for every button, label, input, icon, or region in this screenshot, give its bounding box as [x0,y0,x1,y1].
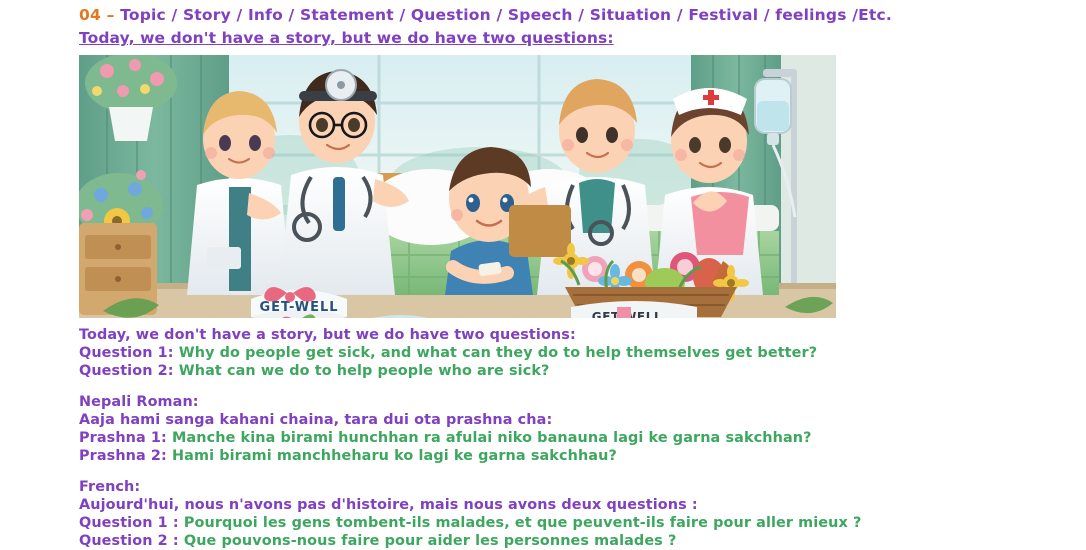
nepali-q2-text: Hami birami manchheharu ko lagi ke garna… [172,448,617,464]
header-block: 04 – Topic / Story / Info / Statement / … [79,6,1069,48]
french-q1-label: Question 1 : [79,515,184,531]
french-question-2: Question 2 : Que pouvons-nous faire pour… [79,532,1079,550]
lesson-number: 04 – [79,6,120,24]
lesson-slide: 04 – Topic / Story / Info / Statement / … [0,0,1086,543]
english-q2-label: Question 2: [79,363,179,379]
nepali-question-1: Prashna 1: Manche kina birami hunchhan r… [79,429,1079,447]
nepali-q2-label: Prashna 2: [79,448,172,464]
nepali-q1-label: Prashna 1: [79,430,172,446]
english-q2-text: What can we do to help people who are si… [179,363,550,379]
svg-text:GET-WELL: GET-WELL [259,300,338,315]
nepali-heading: Nepali Roman: [79,393,1079,411]
english-q1-label: Question 1: [79,345,179,361]
spacer-1 [79,380,1079,393]
french-heading: French: [79,478,1079,496]
french-intro: Aujourd'hui, nous n'avons pas d'histoire… [79,496,1079,514]
nepali-question-2: Prashna 2: Hami birami manchheharu ko la… [79,447,1079,465]
french-q1-text: Pourquoi les gens tombent-ils malades, e… [184,515,862,531]
french-q2-label: Question 2 : [79,533,184,549]
french-question-1: Question 1 : Pourquoi les gens tombent-i… [79,514,1079,532]
lesson-topics: Topic / Story / Info / Statement / Quest… [120,6,892,24]
french-q2-text: Que pouvons-nous faire pour aider les pe… [184,533,677,549]
lesson-title: 04 – Topic / Story / Info / Statement / … [79,6,1069,25]
spacer-2 [79,465,1079,478]
english-intro: Today, we don't have a story, but we do … [79,326,1079,344]
english-question-2: Question 2: What can we do to help peopl… [79,362,1079,380]
translations-block: Today, we don't have a story, but we do … [79,326,1079,550]
english-question-1: Question 1: Why do people get sick, and … [79,344,1079,362]
english-q1-text: Why do people get sick, and what can the… [179,345,817,361]
nepali-q1-text: Manche kina birami hunchhan ra afulai ni… [172,430,812,446]
lesson-subhead: Today, we don't have a story, but we do … [79,28,1069,48]
nepali-intro: Aaja hami sanga kahani chaina, tara dui … [79,411,1079,429]
hospital-room-illustration: GET-WELL GET-WELL [79,55,836,318]
